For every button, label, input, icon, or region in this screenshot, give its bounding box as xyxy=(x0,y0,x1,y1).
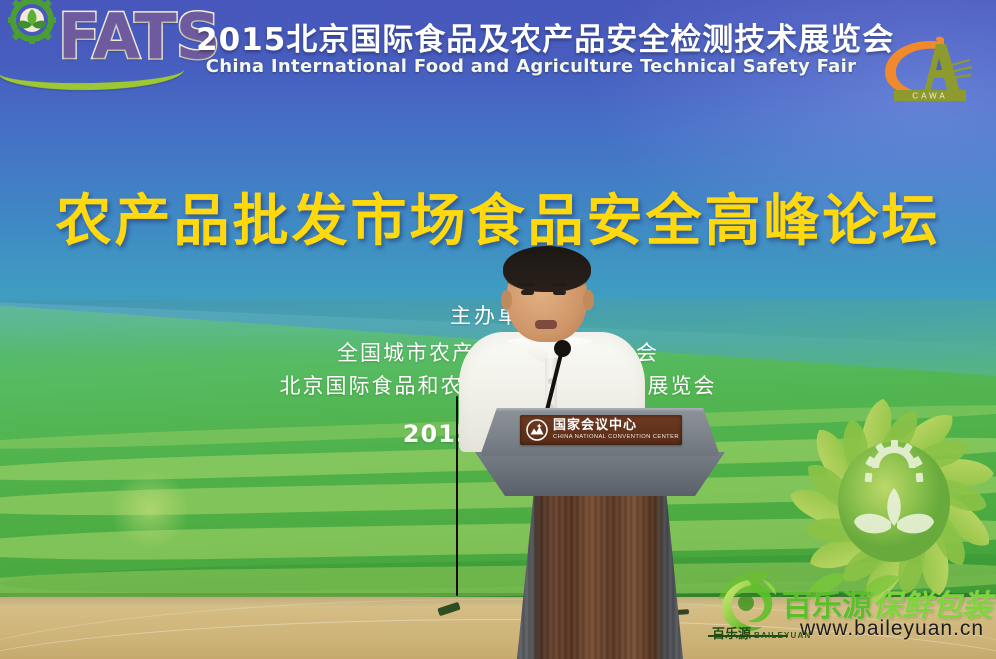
forum-main-title: 农产品批发市场食品安全高峰论坛 xyxy=(0,176,996,257)
cawa-logo: CAWA xyxy=(874,32,978,110)
speaker-ear xyxy=(501,290,512,310)
microphone-icon xyxy=(554,340,571,357)
podium-wood-grain xyxy=(517,494,683,659)
watermark-subbrand: 百乐源 BAILEYUAN xyxy=(712,623,811,642)
audio-cable xyxy=(456,396,458,596)
speaker-eyebrow xyxy=(519,283,535,286)
watermark: 百乐源保鲜包装 百乐源 BAILEYUAN www.baileyuan.cn xyxy=(690,575,990,655)
gear-leaf-emblem xyxy=(6,0,58,48)
conference-photo: FATS 2015北京国际食品及农产品安全检测技术展览会 China Inter… xyxy=(0,0,996,659)
svg-text:CAWA: CAWA xyxy=(912,92,947,101)
fats-swoosh xyxy=(0,50,184,91)
watermark-url: www.baileyuan.cn xyxy=(800,617,984,641)
venue-name-cn: 国家会议中心 xyxy=(553,419,670,433)
banner-title-en: China International Food and Agriculture… xyxy=(196,56,866,77)
speaker-hair xyxy=(503,246,591,292)
watermark-subbrand-cn: 百乐源 xyxy=(712,623,751,642)
speaker-ear xyxy=(583,290,594,310)
speaker-eyebrow xyxy=(551,283,567,286)
fats-logo: FATS xyxy=(6,0,182,96)
speaker-eye xyxy=(553,290,566,295)
cncc-mountain-star-icon xyxy=(526,419,548,441)
venue-name-en: CHINA NATIONAL CONVENTION CENTER xyxy=(553,433,679,441)
podium: 国家会议中心 CHINA NATIONAL CONVENTION CENTER xyxy=(475,408,725,659)
venue-plaque: 国家会议中心 CHINA NATIONAL CONVENTION CENTER xyxy=(520,415,682,445)
venue-plaque-text: 国家会议中心 CHINA NATIONAL CONVENTION CENTER xyxy=(553,419,670,441)
podium-front-face xyxy=(475,452,725,496)
speaker-eye xyxy=(521,290,534,295)
speaker-mouth xyxy=(535,320,557,329)
banner-title-cn: 2015北京国际食品及农产品安全检测技术展览会 xyxy=(196,14,866,59)
